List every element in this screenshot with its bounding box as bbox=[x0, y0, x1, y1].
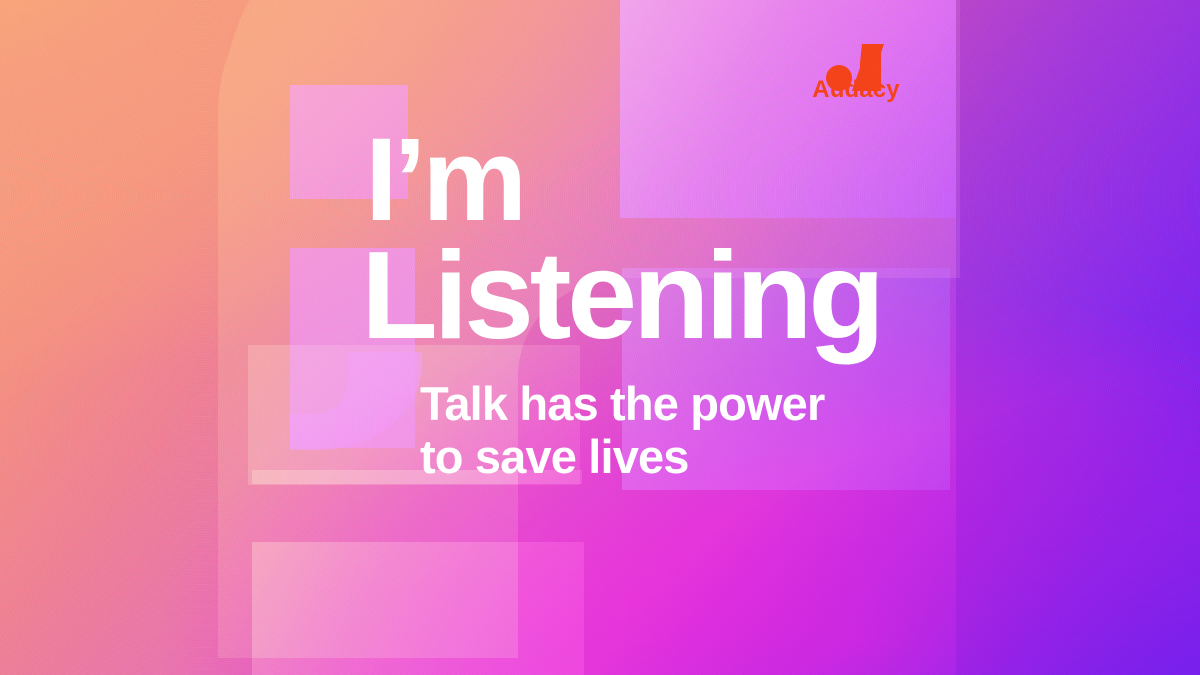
headline: I’m Listening bbox=[363, 126, 983, 353]
panel-right-violet bbox=[956, 0, 1200, 675]
panel-warm-lower-block bbox=[252, 542, 584, 675]
subheadline: Talk has the power to save lives bbox=[420, 378, 824, 483]
panel-lilac-comma-tail bbox=[290, 352, 422, 450]
audacy-logo: Audacy bbox=[790, 26, 922, 108]
audacy-wordmark: Audacy bbox=[790, 76, 922, 104]
promo-banner: Audacy I’m Listening Talk has the power … bbox=[0, 0, 1200, 675]
headline-line-1: I’m bbox=[365, 126, 983, 235]
headline-line-2: Listening bbox=[361, 239, 992, 353]
